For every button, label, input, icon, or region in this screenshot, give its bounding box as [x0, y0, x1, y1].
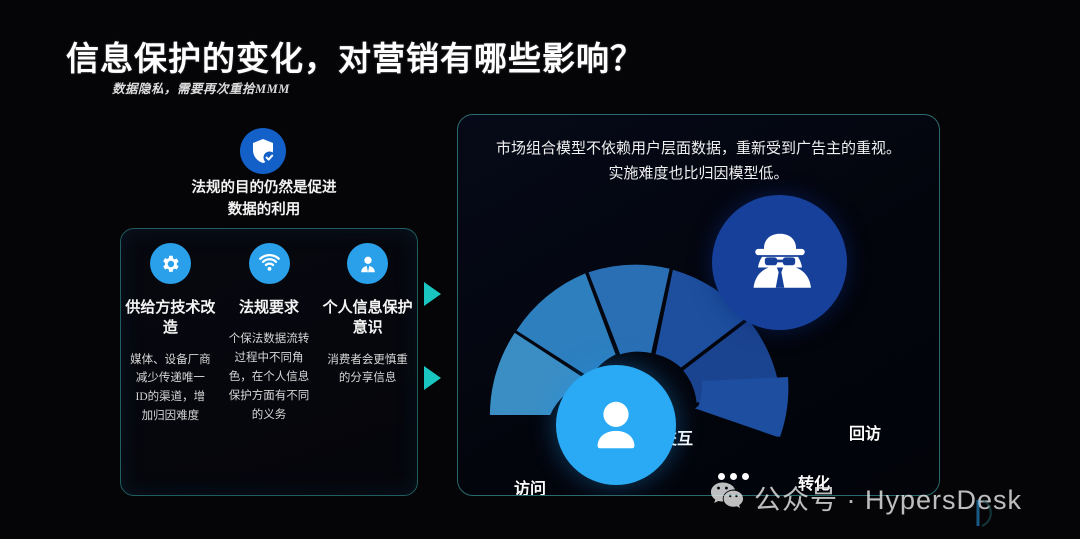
fan-segment-6b — [698, 377, 788, 437]
shield-badge — [240, 128, 286, 174]
flow-arrows — [424, 282, 441, 390]
slide-root: 信息保护的变化，对营销有哪些影响？ 数据隐私，需要再次重拾MMM 法规的目的仍然… — [0, 0, 1080, 539]
play-triangle-icon — [424, 282, 441, 306]
left-column-3-heading: 个人信息保护意识 — [322, 298, 413, 339]
play-triangle-icon — [424, 366, 441, 390]
left-column-3: 个人信息保护意识 消费者会更慎重的分享信息 — [318, 229, 417, 495]
user-person-icon — [556, 365, 676, 485]
left-column-2-heading: 法规要求 — [224, 298, 315, 318]
left-column-1-heading: 供给方技术改造 — [125, 298, 216, 339]
fan-label-6: 回访 — [849, 420, 881, 444]
gear-icon — [150, 243, 191, 284]
left-column-1-body: 媒体、设备厂商减少传递唯一ID的渠道，增加归因难度 — [125, 351, 216, 427]
person-badge-icon — [347, 243, 388, 284]
spy-incognito-icon — [712, 195, 847, 330]
wechat-icon — [710, 481, 744, 515]
shield-check-icon — [240, 128, 286, 174]
page-subtitle: 数据隐私，需要再次重拾MMM — [112, 78, 290, 97]
wifi-icon — [249, 243, 290, 284]
left-panel-card: 供给方技术改造 媒体、设备厂商减少传递唯一ID的渠道，增加归因难度 法规要求 个… — [120, 228, 418, 496]
page-title: 信息保护的变化，对营销有哪些影响？ — [66, 32, 644, 80]
left-column-2-body: 个保法数据流转过程中不同角色，在个人信息保护方面有不同的义务 — [224, 330, 315, 425]
left-column-2: 法规要求 个保法数据流转过程中不同角色，在个人信息保护方面有不同的义务 — [220, 229, 319, 495]
lead-statement: 法规的目的仍然是促进数据的利用 — [190, 178, 338, 222]
corner-glyph — [968, 494, 1002, 537]
left-column-3-body: 消费者会更慎重的分享信息 — [322, 351, 413, 389]
right-panel-card: 市场组合模型不依赖用户层面数据，重新受到广告主的重视。实施难度也比归因模型低。 — [457, 114, 940, 496]
left-column-1: 供给方技术改造 媒体、设备厂商减少传递唯一ID的渠道，增加归因难度 — [121, 229, 220, 495]
fan-label-1: 访问 — [514, 475, 546, 496]
